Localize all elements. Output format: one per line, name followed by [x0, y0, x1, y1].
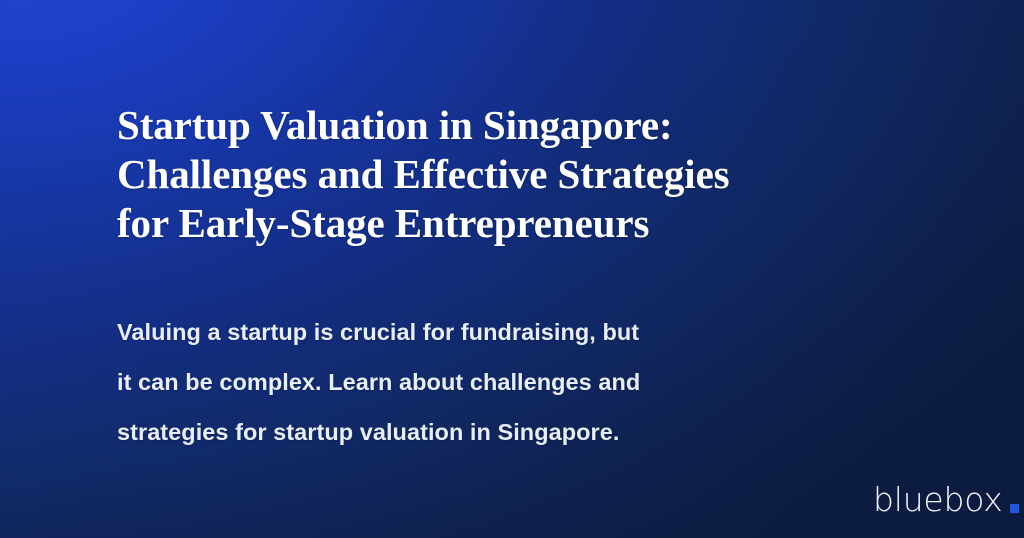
- headline-line-3: for Early-Stage Entrepreneurs: [117, 199, 877, 248]
- subtitle-line-1: Valuing a startup is crucial for fundrai…: [117, 307, 847, 357]
- logo-square-dot-icon: [1010, 504, 1019, 513]
- banner-content: Startup Valuation in Singapore: Challeng…: [0, 0, 1024, 538]
- subtitle-text: Valuing a startup is crucial for fundrai…: [117, 307, 847, 457]
- bluebox-logo: bluebox: [873, 483, 1019, 516]
- subtitle-line-2: it can be complex. Learn about challenge…: [117, 357, 847, 407]
- promo-banner: Startup Valuation in Singapore: Challeng…: [0, 0, 1024, 538]
- logo-wordmark: bluebox: [873, 483, 1003, 516]
- headline-line-1: Startup Valuation in Singapore:: [117, 101, 877, 150]
- headline-line-2: Challenges and Effective Strategies: [117, 150, 877, 199]
- subtitle-line-3: strategies for startup valuation in Sing…: [117, 407, 847, 457]
- page-title: Startup Valuation in Singapore: Challeng…: [117, 101, 877, 248]
